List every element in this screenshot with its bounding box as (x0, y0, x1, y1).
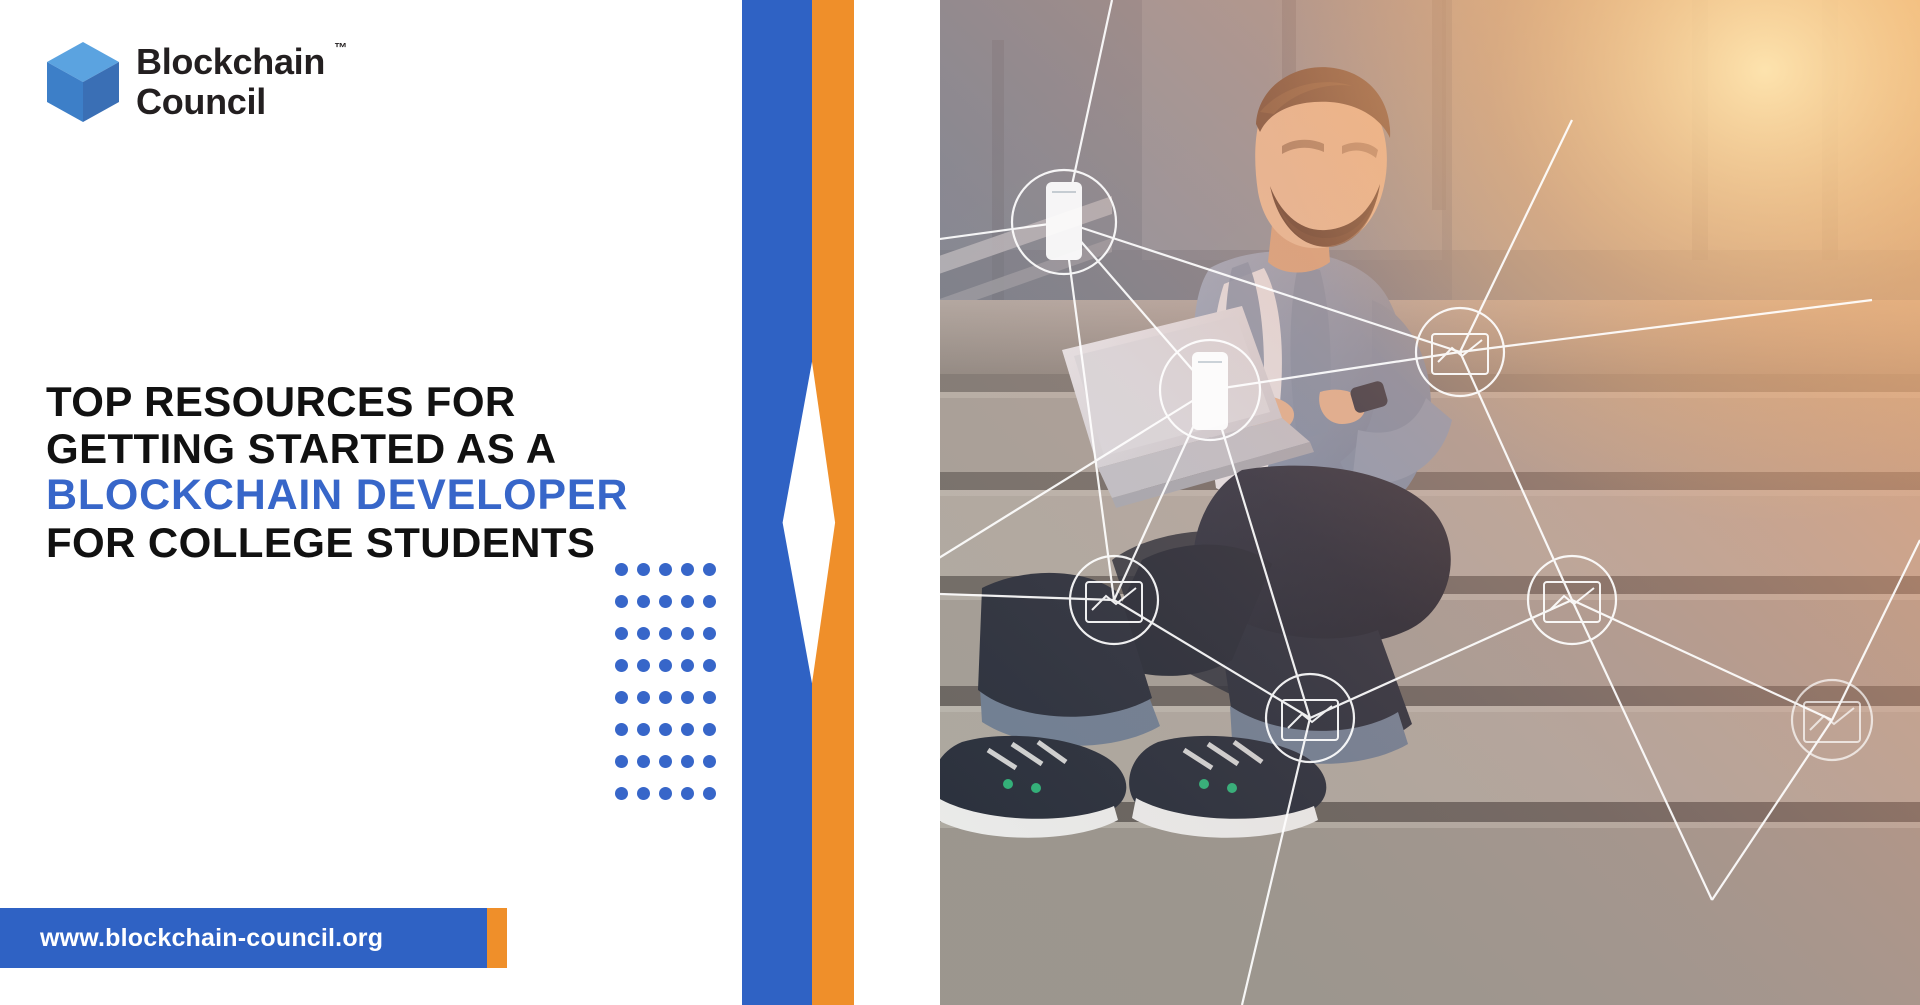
grid-dot (681, 659, 694, 672)
grid-dot (615, 691, 628, 704)
hero-photo (812, 0, 1920, 1005)
headline-line-3-accent: BLOCKCHAIN DEVELOPER (46, 472, 746, 519)
website-url-text: www.blockchain-council.org (40, 924, 383, 953)
grid-dot (637, 723, 650, 736)
page-title: TOP RESOURCES FOR GETTING STARTED AS A B… (46, 378, 746, 566)
grid-dot (659, 659, 672, 672)
grid-dot (659, 723, 672, 736)
grid-dot (703, 755, 716, 768)
grid-dot (659, 691, 672, 704)
grid-dot (615, 755, 628, 768)
grid-dot (637, 627, 650, 640)
grid-dot (637, 595, 650, 608)
grid-dot (659, 563, 672, 576)
brand-logo-line2: Council (136, 82, 325, 122)
headline-line-4: FOR COLLEGE STUDENTS (46, 519, 746, 566)
grid-dot (703, 595, 716, 608)
grid-dot (681, 755, 694, 768)
grid-dot (681, 787, 694, 800)
grid-dot (681, 627, 694, 640)
poster-canvas: Blockchain Council ™ TOP RESOURCES FOR G… (0, 0, 1920, 1005)
grid-dot (615, 563, 628, 576)
grid-dot (659, 595, 672, 608)
grid-dot (615, 595, 628, 608)
grid-dot (681, 691, 694, 704)
grid-dot (615, 787, 628, 800)
grid-dot (659, 787, 672, 800)
dot-grid-decoration (615, 563, 725, 819)
grid-dot (637, 787, 650, 800)
grid-dot (703, 723, 716, 736)
url-bar-accent (487, 908, 507, 968)
grid-dot (681, 723, 694, 736)
grid-dot (703, 563, 716, 576)
grid-dot (703, 787, 716, 800)
hero-photo-illustration (812, 0, 1920, 1005)
grid-dot (615, 723, 628, 736)
grid-dot (637, 659, 650, 672)
grid-dot (615, 659, 628, 672)
headline-line-2: GETTING STARTED AS A (46, 425, 746, 472)
brand-logo-line1: Blockchain (136, 42, 325, 82)
cube-icon (44, 40, 122, 124)
headline-line-1: TOP RESOURCES FOR (46, 378, 746, 425)
grid-dot (681, 595, 694, 608)
grid-dot (703, 691, 716, 704)
brand-logo[interactable]: Blockchain Council ™ (44, 40, 325, 124)
grid-dot (703, 627, 716, 640)
grid-dot (637, 563, 650, 576)
grid-dot (637, 691, 650, 704)
grid-dot (659, 755, 672, 768)
brand-logo-text: Blockchain Council ™ (136, 42, 325, 122)
grid-dot (681, 563, 694, 576)
grid-dot (637, 755, 650, 768)
trademark-symbol: ™ (334, 40, 347, 55)
website-url-bar[interactable]: www.blockchain-council.org (0, 908, 487, 968)
grid-dot (659, 627, 672, 640)
grid-dot (615, 627, 628, 640)
grid-dot (703, 659, 716, 672)
